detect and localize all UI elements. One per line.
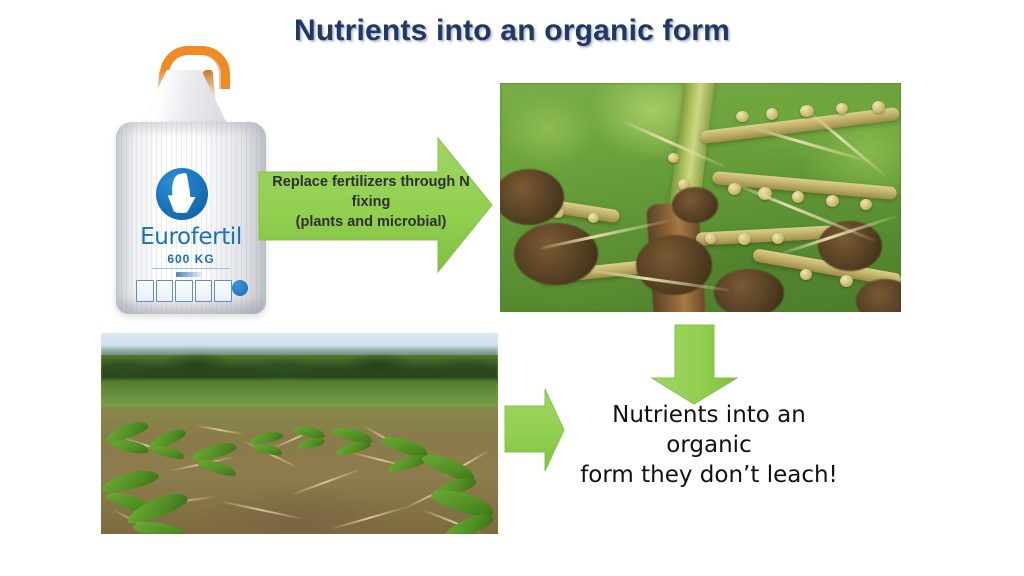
bag-brand-label: Eurofertil (118, 226, 264, 249)
root-nodules-photo (500, 83, 901, 312)
down-arrow (652, 325, 737, 404)
conclusion-text: Nutrients into an organic form they don’… (568, 400, 850, 490)
bag-weight-label: 600 KG (112, 252, 270, 266)
replace-fertilizers-arrow-label: Replace fertilizers through N fixing (pl… (262, 172, 480, 232)
conclusion-line-2: form they don’t leach! (568, 460, 850, 490)
right-arrow-small (505, 389, 564, 471)
slide-canvas: Nutrients into an organic form Euroferti… (0, 0, 1024, 576)
page-title: Nutrients into an organic form (0, 14, 1024, 48)
arrow-label-line-1: Replace fertilizers through N (262, 172, 480, 192)
bag-eco-badge-icon (232, 280, 248, 296)
conclusion-line-1: Nutrients into an organic (568, 400, 850, 460)
arrow-label-line-3: (plants and microbial) (262, 212, 480, 232)
fertilizer-bag-image: Eurofertil 600 KG (112, 44, 270, 316)
bag-rule (152, 268, 230, 269)
arrow-label-line-2: fixing (262, 192, 480, 212)
bag-pictogram-panel (136, 280, 232, 302)
maize-field-photo (101, 333, 498, 534)
bag-small-print (176, 272, 202, 277)
